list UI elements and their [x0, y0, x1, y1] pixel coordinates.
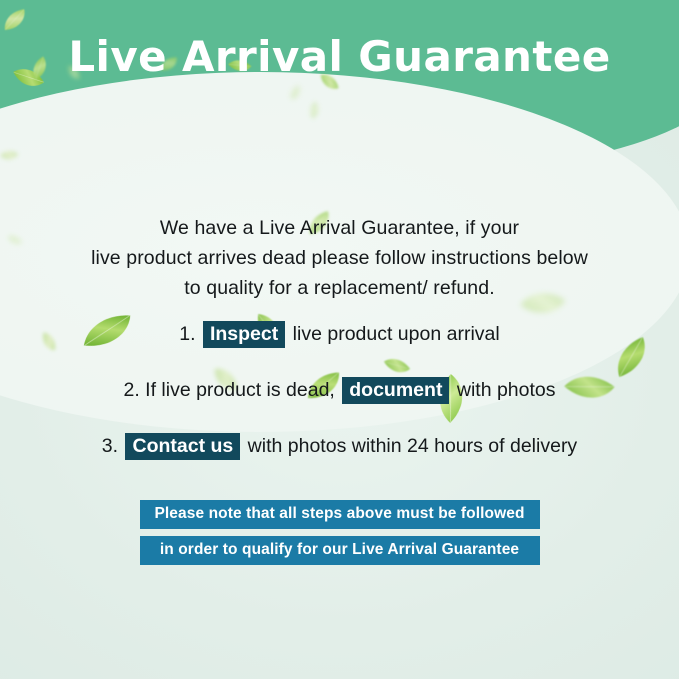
step-item-2: 2. If live product is dead, document wit… [0, 376, 679, 404]
steps-list: 1. Inspect live product upon arrival 2. … [0, 320, 679, 488]
step-number-1: 1. [179, 323, 195, 345]
step-after-2: with photos [457, 379, 556, 401]
note-box: Please note that all steps above must be… [140, 500, 540, 572]
step-highlight-contact-us[interactable]: Contact us [125, 433, 240, 460]
step-after-3: with photos within 24 hours of delivery [248, 435, 578, 457]
intro-line-2: live product arrives dead please follow … [91, 247, 588, 269]
content-area: We have a Live Arrival Guarantee, if you… [0, 0, 679, 679]
note-line-2: in order to qualify for our Live Arrival… [140, 536, 540, 565]
step-highlight-document[interactable]: document [342, 377, 449, 404]
step-before-2: If live product is dead, [145, 379, 335, 401]
intro-paragraph: We have a Live Arrival Guarantee, if you… [60, 213, 620, 303]
step-after-1: live product upon arrival [293, 323, 500, 345]
step-item-1: 1. Inspect live product upon arrival [0, 320, 679, 348]
step-number-2: 2. [123, 379, 139, 401]
live-arrival-guarantee-poster: Live Arrival Guarantee We have a Live Ar… [0, 0, 679, 679]
step-number-3: 3. [102, 435, 118, 457]
intro-line-3: to quality for a replacement/ refund. [184, 277, 494, 299]
step-highlight-inspect[interactable]: Inspect [203, 321, 285, 348]
intro-line-1: We have a Live Arrival Guarantee, if you… [160, 217, 519, 239]
step-item-3: 3. Contact us with photos within 24 hour… [0, 432, 679, 460]
note-line-1: Please note that all steps above must be… [140, 500, 540, 529]
